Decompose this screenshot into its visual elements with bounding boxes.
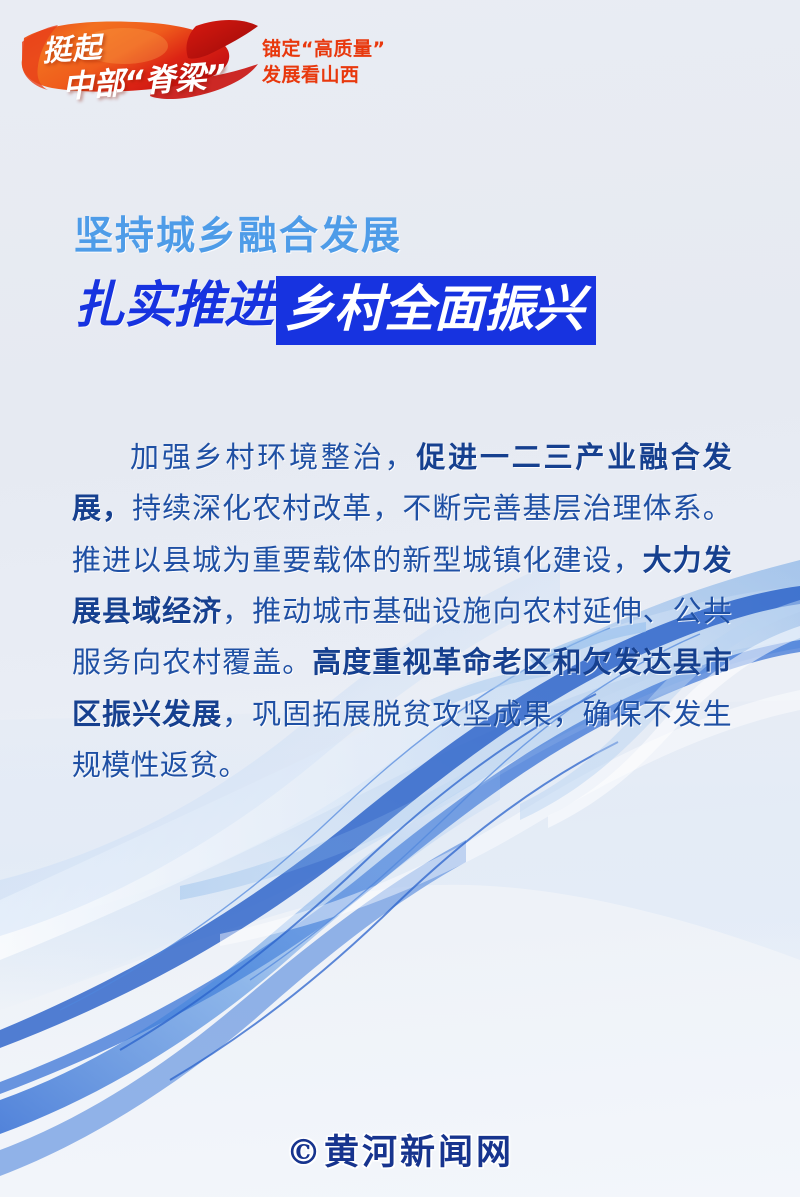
aerial-photo-region (0, 777, 800, 1197)
headline-main-plain: 扎实推进 (74, 276, 276, 345)
headline-main-row: 扎实推进 乡村全面振兴 (74, 276, 800, 345)
poster-root: 挺起 中部“脊梁” 锚定“高质量” 发展看山西 坚持城乡融合发展 扎实推进 乡村… (0, 0, 800, 1197)
aerial-landscape-illustration (0, 777, 800, 1197)
slogan-line1: 锚定“高质量” (262, 38, 385, 60)
headline-main-highlight: 乡村全面振兴 (276, 276, 596, 345)
headline-subtitle: 坚持城乡融合发展 (74, 214, 800, 260)
headline-block: 坚持城乡融合发展 扎实推进 乡村全面振兴 (0, 214, 800, 345)
campaign-slogan: 锚定“高质量” 发展看山西 (262, 36, 385, 88)
body-segment-2: 持续深化农村改革，不断完善基层治理体系。推进以县城为重要载体的新型城镇化建设， (72, 491, 732, 576)
body-paragraph: 加强乡村环境整治，促进一二三产业融合发展，持续深化农村改革，不断完善基层治理体系… (72, 432, 732, 791)
red-brush-stroke-icon (18, 12, 276, 108)
slogan-line2: 发展看山西 (262, 62, 385, 88)
body-segment-0: 加强乡村环境整治， (130, 440, 416, 474)
poster-header: 挺起 中部“脊梁” 锚定“高质量” 发展看山西 (0, 0, 800, 120)
